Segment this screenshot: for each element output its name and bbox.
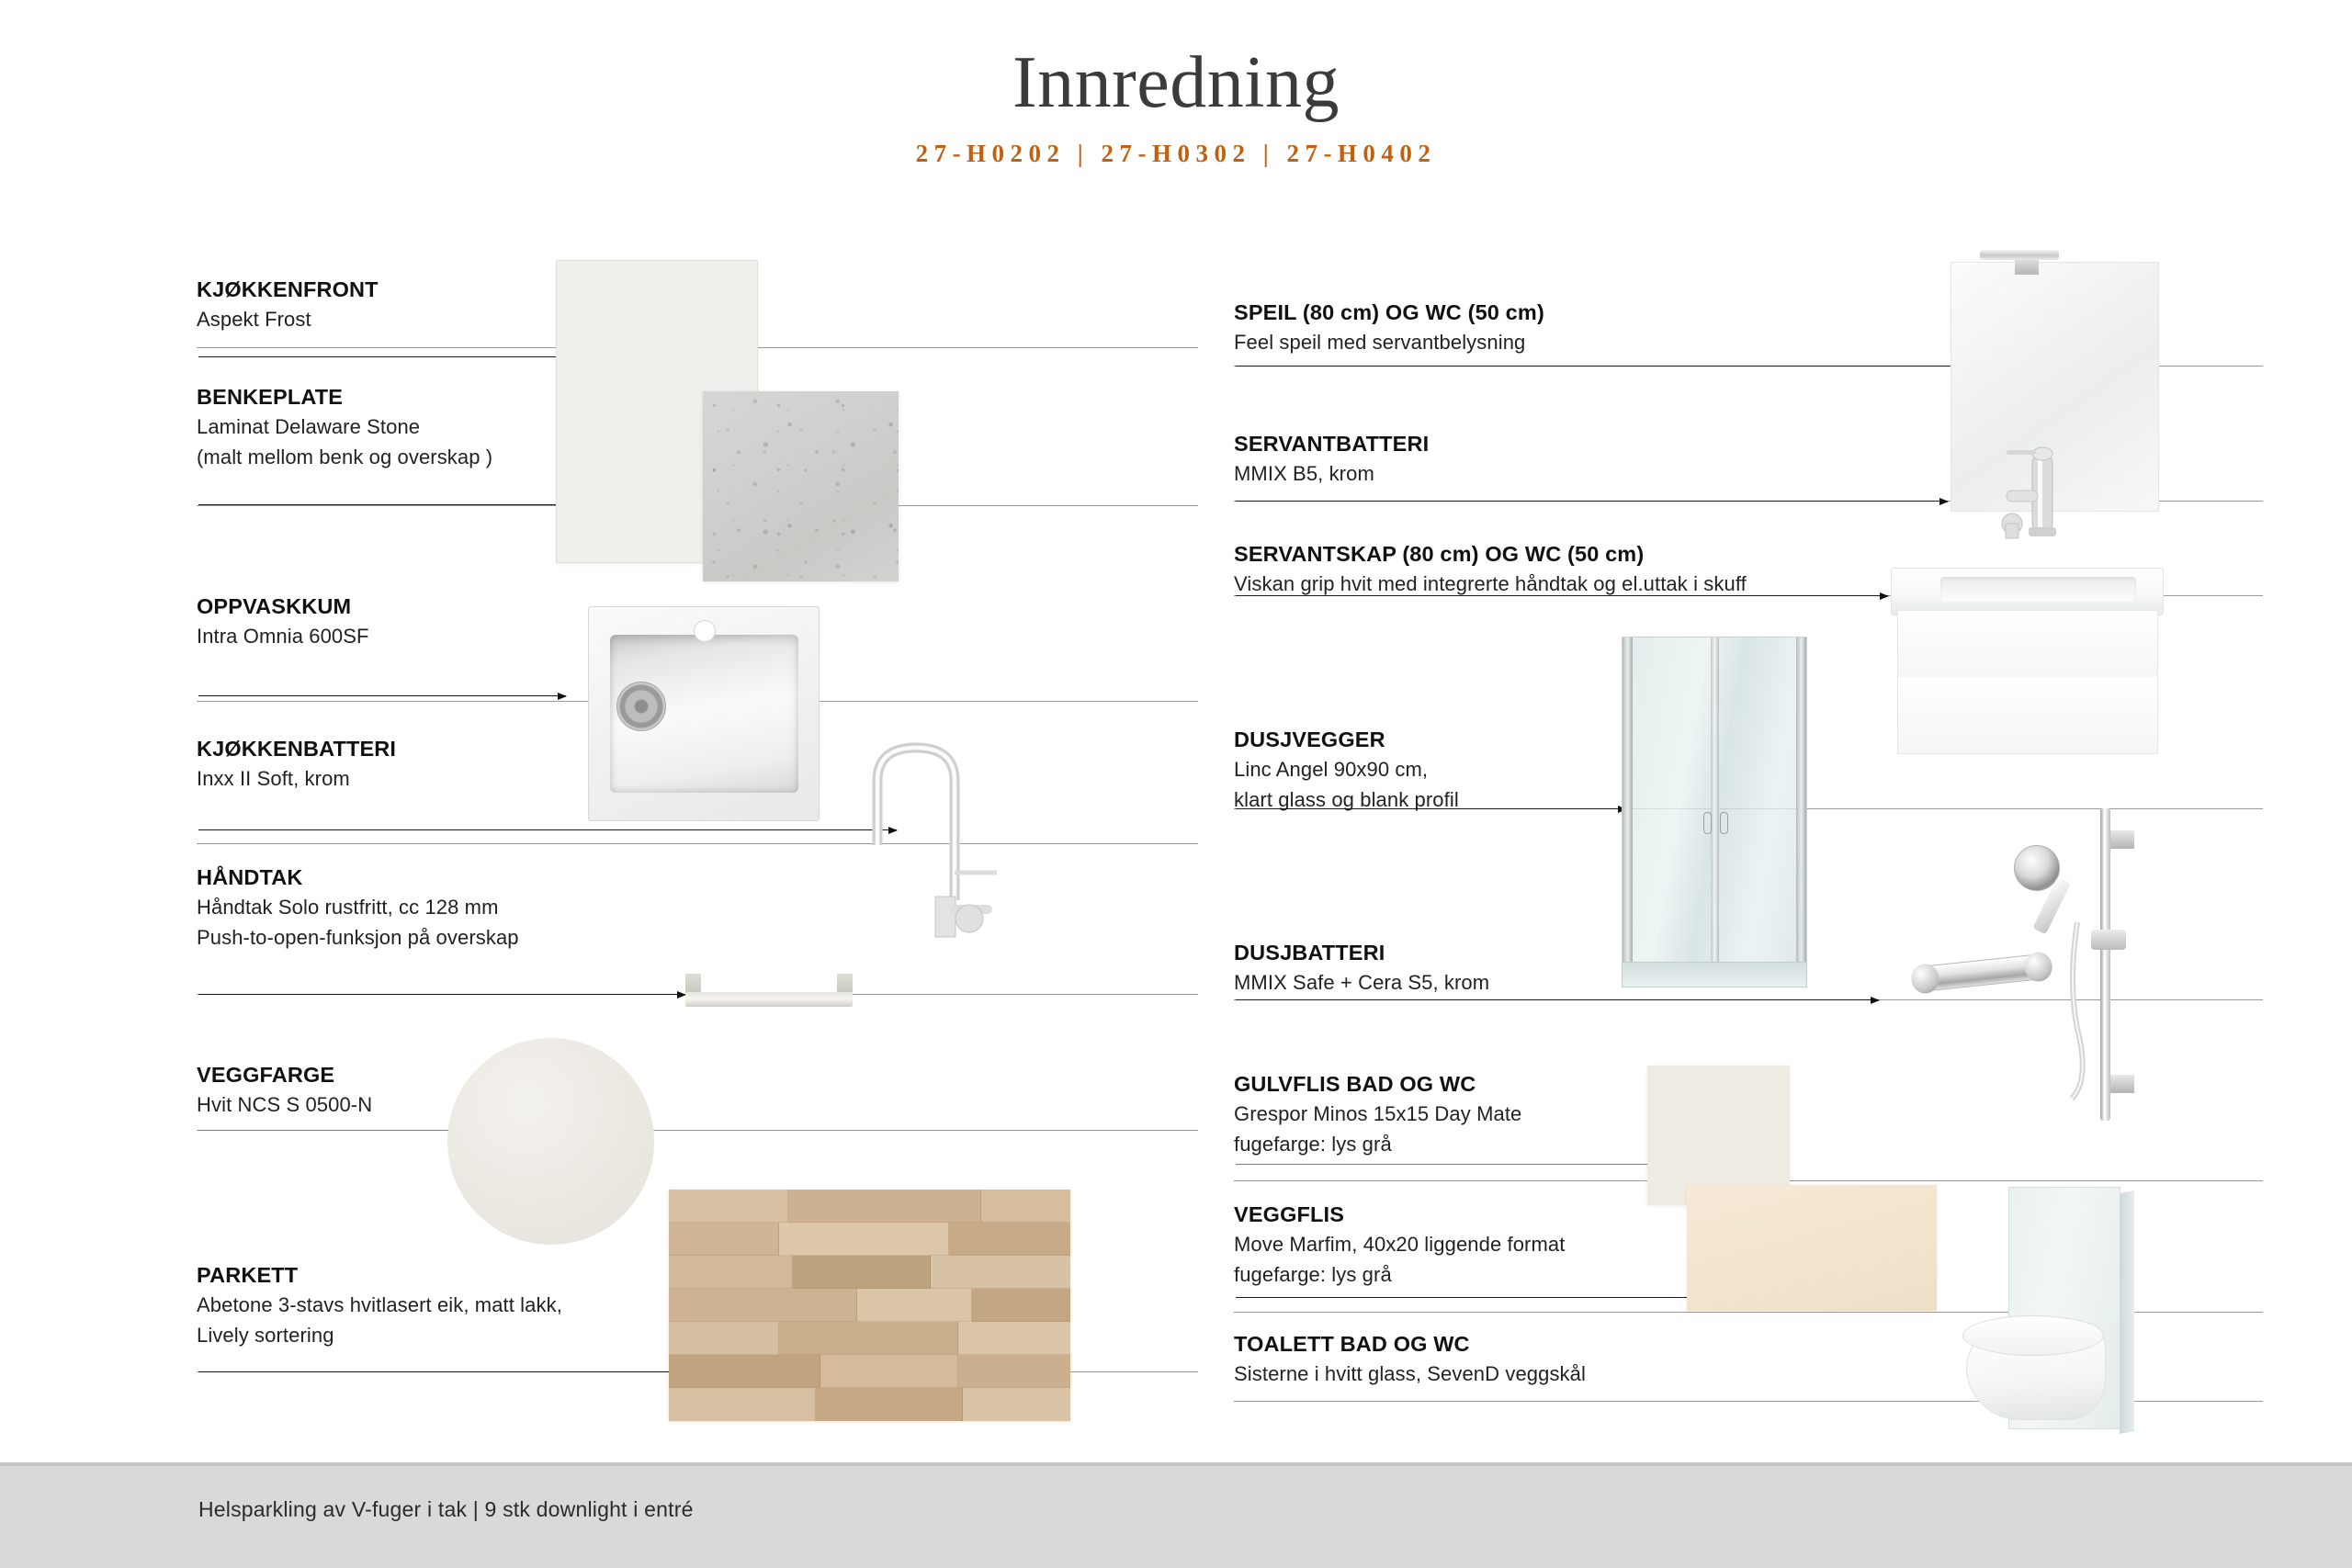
spec-title: DUSJBATTERI: [1234, 939, 1489, 966]
spec-desc: Lively sortering: [197, 1321, 562, 1349]
shower-door-handle-right: [1720, 812, 1728, 834]
unit-codes: 27-H0202 | 27-H0302 | 27-H0402: [0, 121, 2352, 168]
spec-veggflis-block: VEGGFLIS Move Marfim, 40x20 liggende for…: [1234, 1201, 1565, 1290]
vanity-basin: [1891, 568, 2164, 615]
sink-tap-hole: [694, 620, 716, 642]
spec-dusjbatteri-block: DUSJBATTERI MMIX Safe + Cera S5, krom: [1234, 939, 1489, 997]
spec-desc: Håndtak Solo rustfritt, cc 128 mm: [197, 893, 519, 921]
handle-bar: [685, 992, 853, 1007]
mirror-light-arm: [2015, 260, 2039, 275]
spec-desc: (malt mellom benk og overskap ): [197, 443, 492, 471]
footer-divider: [0, 1462, 2352, 1466]
spec-benkeplate: BENKEPLATE Laminat Delaware Stone (malt …: [197, 383, 492, 472]
thermostat-cap-left: [1910, 963, 1940, 995]
spec-gulvflis-block: GULVFLIS BAD OG WC Grespor Minos 15x15 D…: [1234, 1070, 1521, 1159]
sink-drain-icon: [616, 682, 666, 731]
spec-desc: Laminat Delaware Stone: [197, 412, 492, 441]
spec-kjokkenbatteri-block: KJØKKENBATTERI Inxx II Soft, krom: [197, 735, 396, 793]
spec-title: SERVANTBATTERI: [1234, 430, 1429, 457]
spec-speil-block: SPEIL (80 cm) OG WC (50 cm) Feel speil m…: [1234, 299, 1544, 356]
page-header: Innredning 27-H0202 | 27-H0302 | 27-H040…: [0, 0, 2352, 168]
cabinet-handle-image: [685, 974, 853, 1012]
shower-mullion: [1711, 637, 1719, 964]
spec-title: KJØKKENBATTERI: [197, 735, 396, 762]
spec-dusjvegger-block: DUSJVEGGER Linc Angel 90x90 cm, klart gl…: [1234, 726, 1459, 815]
spec-title: PARKETT: [197, 1261, 562, 1289]
spec-desc: Grespor Minos 15x15 Day Mate: [1234, 1100, 1521, 1128]
spec-desc: Linc Angel 90x90 cm,: [1234, 755, 1459, 784]
leader-servantbatteri: [1236, 501, 1948, 502]
spec-desc: Push-to-open-funksjon på overskap: [197, 923, 519, 952]
spec-desc: MMIX Safe + Cera S5, krom: [1234, 968, 1489, 997]
leader-oppvaskkum: [198, 695, 566, 696]
page-title: Innredning: [0, 0, 2352, 121]
basin-mixer-image: [1992, 432, 2093, 551]
spec-title: VEGGFLIS: [1234, 1201, 1565, 1228]
spec-desc: Sisterne i hvitt glass, SevenD veggskål: [1234, 1359, 1586, 1388]
shower-post-left: [1623, 637, 1633, 964]
spec-kjokkenfront: KJØKKENFRONT Aspekt Frost: [197, 276, 379, 333]
spec-desc: MMIX B5, krom: [1234, 459, 1429, 488]
spec-desc: klart glass og blank profil: [1234, 785, 1459, 814]
spec-desc: Hvit NCS S 0500-N: [197, 1090, 372, 1119]
leader-servantskap: [1236, 595, 1888, 596]
worktop-laminate-sample: [703, 391, 899, 581]
vanity-drawer-bottom: [1898, 677, 2157, 753]
wall-tile-sample: [1687, 1185, 1937, 1311]
spec-parkett-block: PARKETT Abetone 3-stavs hvitlasert eik, …: [197, 1261, 562, 1350]
spec-oppvaskkum: OPPVASKKUM Intra Omnia 600SF: [197, 592, 369, 650]
spec-desc: Intra Omnia 600SF: [197, 622, 369, 650]
divider-rule: [197, 843, 1198, 844]
leader-speil: [1236, 366, 1971, 367]
spec-sheet-page: Innredning 27-H0202 | 27-H0302 | 27-H040…: [0, 0, 2352, 1568]
spec-title: SPEIL (80 cm) OG WC (50 cm): [1234, 299, 1544, 326]
spec-desc: Viskan grip hvit med integrerte håndtak …: [1234, 570, 1747, 598]
kitchen-sink-image: [588, 606, 820, 821]
spec-title: TOALETT BAD OG WC: [1234, 1330, 1586, 1358]
spec-title: BENKEPLATE: [197, 383, 492, 411]
leader-dusjvegger: [1236, 808, 1626, 809]
wc-seat: [1962, 1315, 2104, 1356]
leader-handtak: [198, 994, 685, 995]
spec-desc: Inxx II Soft, krom: [197, 764, 396, 793]
spec-title: OPPVASKKUM: [197, 592, 369, 620]
arrow-head-icon: [558, 693, 567, 700]
arrow-head-icon: [1939, 498, 1949, 505]
spec-veggfarge-block: VEGGFARGE Hvit NCS S 0500-N: [197, 1061, 372, 1119]
spec-servantbatteri-block: SERVANTBATTERI MMIX B5, krom: [1234, 430, 1429, 488]
spec-desc: Abetone 3-stavs hvitlasert eik, matt lak…: [197, 1291, 562, 1319]
spec-desc: Aspekt Frost: [197, 305, 379, 333]
kitchen-faucet-image: [859, 735, 1006, 951]
spec-desc: fugefarge: lys grå: [1234, 1130, 1521, 1158]
spec-toalett-block: TOALETT BAD OG WC Sisterne i hvitt glass…: [1234, 1330, 1586, 1388]
thermostat-cap-right: [2023, 951, 2053, 983]
shower-handset-holder: [2091, 930, 2126, 950]
mirror-light-bar: [1980, 250, 2059, 260]
spec-title: SERVANTSKAP (80 cm) OG WC (50 cm): [1234, 540, 1747, 568]
spec-title: GULVFLIS BAD OG WC: [1234, 1070, 1521, 1098]
shower-base-tray: [1622, 962, 1807, 987]
wc-cistern-side: [2120, 1190, 2134, 1434]
spec-title: VEGGFARGE: [197, 1061, 372, 1089]
leader-kjokkenbatteri: [198, 829, 897, 830]
shower-post-right: [1796, 637, 1806, 964]
vanity-drawer-top: [1898, 611, 2157, 678]
shower-enclosure-image: [1622, 637, 1807, 964]
vanity-cabinet: [1897, 610, 2158, 754]
leader-parkett: [198, 1371, 704, 1372]
arrow-head-icon: [1871, 997, 1880, 1004]
leader-dusjbatteri: [1236, 999, 1879, 1000]
wall-paint-swatch: [447, 1038, 654, 1245]
shower-door-handle-left: [1703, 812, 1712, 834]
spec-desc: Move Marfim, 40x20 liggende format: [1234, 1230, 1565, 1258]
spec-desc: Feel speil med servantbelysning: [1234, 328, 1544, 356]
spec-servantskap-block: SERVANTSKAP (80 cm) OG WC (50 cm) Viskan…: [1234, 540, 1747, 598]
spec-title: KJØKKENFRONT: [197, 276, 379, 303]
shower-thermostat-bar: [1915, 953, 2049, 993]
handle-leg-left: [685, 974, 701, 994]
footer-note: Helsparkling av V-fuger i tak | 9 stk do…: [198, 1497, 694, 1522]
spec-title: DUSJVEGGER: [1234, 726, 1459, 753]
arrow-head-icon: [1880, 592, 1889, 600]
spec-handtak-block: HÅNDTAK Håndtak Solo rustfritt, cc 128 m…: [197, 863, 519, 953]
spec-desc: fugefarge: lys grå: [1234, 1260, 1565, 1289]
spec-title: HÅNDTAK: [197, 863, 519, 891]
handle-leg-right: [837, 974, 853, 994]
rail-bracket-top: [2110, 830, 2134, 849]
vanity-basin-bowl: [1940, 577, 2135, 602]
parquet-floor-sample: [669, 1190, 1070, 1421]
page-footer: Helsparkling av V-fuger i tak | 9 stk do…: [0, 1462, 2352, 1568]
